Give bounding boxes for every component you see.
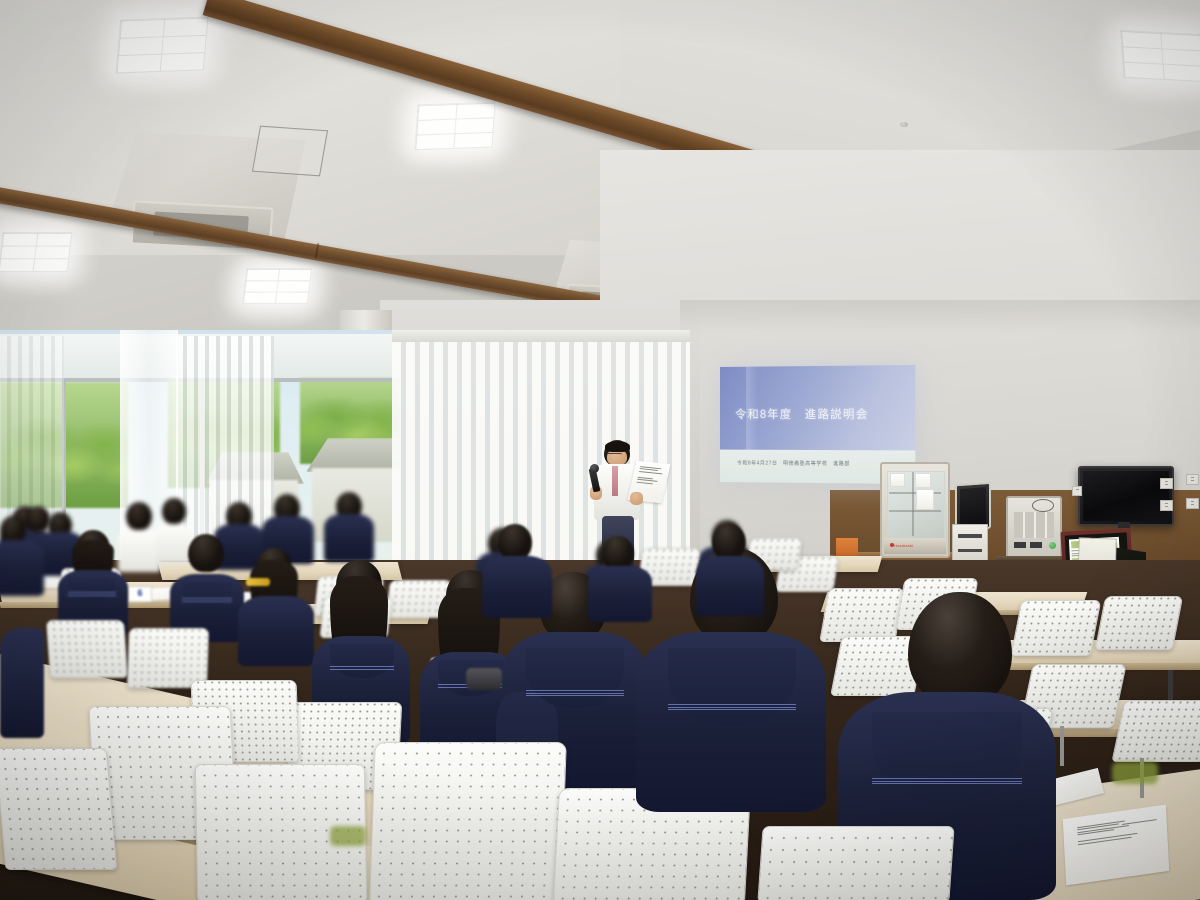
presenter-hair bbox=[605, 441, 630, 452]
chair[interactable] bbox=[1111, 700, 1200, 762]
chair[interactable] bbox=[369, 742, 567, 900]
chair[interactable] bbox=[127, 628, 209, 688]
blind-headrail bbox=[392, 330, 690, 342]
wall-shadow-band bbox=[680, 300, 1200, 334]
chair[interactable] bbox=[819, 588, 905, 642]
window-vertical-blinds bbox=[0, 336, 64, 536]
photo-scene: 令和8年度 進路説明会 令和8年4月27日 明徳義塾高等学校 進路部 Hoshi… bbox=[0, 0, 1200, 900]
case-brand-label: Hoshizaki bbox=[894, 543, 913, 548]
green-chair-seat bbox=[1112, 762, 1158, 784]
microphone-head bbox=[590, 464, 599, 473]
chair[interactable] bbox=[1011, 600, 1102, 656]
wall-outlet[interactable] bbox=[1160, 500, 1173, 511]
slide-title-text: 令和8年度 進路説明会 bbox=[735, 406, 868, 422]
presenter-necktie bbox=[612, 466, 618, 496]
chair[interactable] bbox=[757, 826, 954, 900]
presenter-hand-right bbox=[630, 492, 643, 505]
wall-tv[interactable] bbox=[1078, 466, 1174, 526]
chair[interactable] bbox=[1095, 596, 1183, 650]
tv-stand bbox=[1118, 522, 1130, 528]
green-chair-seat bbox=[330, 826, 366, 846]
case-poster bbox=[915, 473, 931, 488]
glasses-icon bbox=[606, 453, 622, 457]
ceiling-fixture-dot bbox=[900, 122, 908, 127]
power-cord bbox=[1032, 499, 1054, 512]
slide-subtitle-text: 令和8年4月27日 明徳義塾高等学校 進路部 bbox=[737, 459, 850, 467]
yellow-item bbox=[246, 578, 270, 586]
wall-outlet[interactable] bbox=[1186, 498, 1199, 509]
case-poster bbox=[916, 489, 934, 510]
school-bag bbox=[466, 668, 502, 690]
case-brand-mark bbox=[890, 543, 894, 547]
audience-far-left-torso bbox=[0, 628, 44, 738]
case-poster bbox=[890, 473, 905, 487]
wall-outlet[interactable] bbox=[1072, 486, 1082, 496]
chair-number-tag: 6 bbox=[128, 586, 152, 602]
chair[interactable] bbox=[46, 620, 128, 678]
vending-button[interactable] bbox=[1049, 542, 1056, 549]
wall-outlet[interactable] bbox=[1160, 478, 1173, 489]
chair-leg bbox=[1060, 726, 1064, 766]
vending-machine[interactable] bbox=[1006, 496, 1062, 562]
refrigerated-display-case[interactable]: Hoshizaki bbox=[880, 462, 950, 558]
wall-outlet[interactable] bbox=[1186, 474, 1199, 485]
ceiling-access-hatch bbox=[252, 126, 328, 177]
chair[interactable] bbox=[0, 748, 117, 870]
